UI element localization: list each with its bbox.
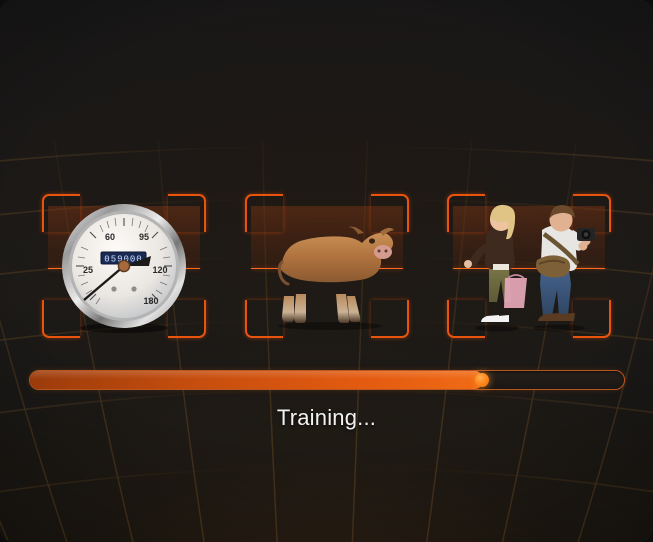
svg-text:95: 95 [139,232,149,242]
progress-track[interactable] [29,370,625,390]
sample-card-pedestrians[interactable] [445,192,613,340]
person-shopper [464,205,527,322]
sample-card-gauge[interactable]: 25 60 95 120 180 059000 [40,192,208,340]
svg-text:25: 25 [83,265,93,275]
status-label: Training... [0,405,653,431]
svg-text:60: 60 [105,232,115,242]
svg-text:120: 120 [152,265,167,275]
person-photographer [536,205,595,321]
sample-card-calf[interactable] [243,192,411,340]
sample-card-row: 25 60 95 120 180 059000 [40,192,613,340]
progress-knob[interactable] [475,373,489,387]
progress-fill [30,371,481,389]
pedestrians-image [445,192,613,340]
gauge-image: 25 60 95 120 180 059000 [40,192,208,340]
svg-text:180: 180 [143,296,158,306]
training-progress-bar[interactable] [29,370,625,390]
calf-image [243,192,411,340]
training-window: 25 60 95 120 180 059000 [0,0,653,542]
